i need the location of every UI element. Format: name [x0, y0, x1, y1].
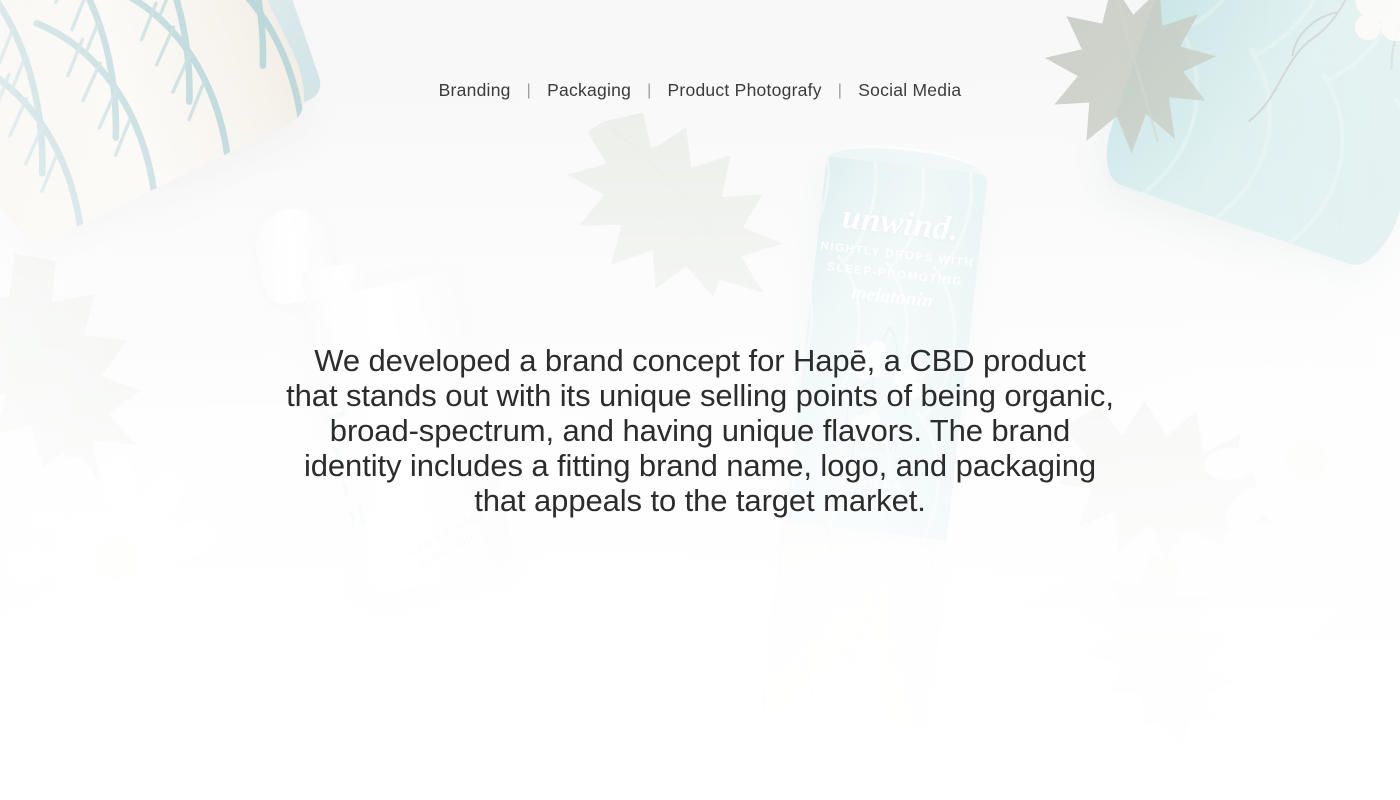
nav-item-packaging[interactable]: Packaging — [544, 80, 634, 101]
page-canvas: hapē CBD EXTRACT IN MCT OIL — [0, 0, 1400, 800]
page-content: Branding | Packaging | Product Photograf… — [0, 0, 1400, 800]
nav-separator: | — [825, 82, 855, 100]
nav-item-product-photografy[interactable]: Product Photografy — [664, 80, 824, 101]
nav-item-branding[interactable]: Branding — [436, 80, 514, 101]
nav-separator: | — [634, 82, 664, 100]
category-nav: Branding | Packaging | Product Photograf… — [0, 80, 1400, 101]
nav-item-social-media[interactable]: Social Media — [855, 80, 964, 101]
nav-separator: | — [514, 82, 544, 100]
project-description: We developed a brand concept for Hapē, a… — [285, 343, 1115, 518]
